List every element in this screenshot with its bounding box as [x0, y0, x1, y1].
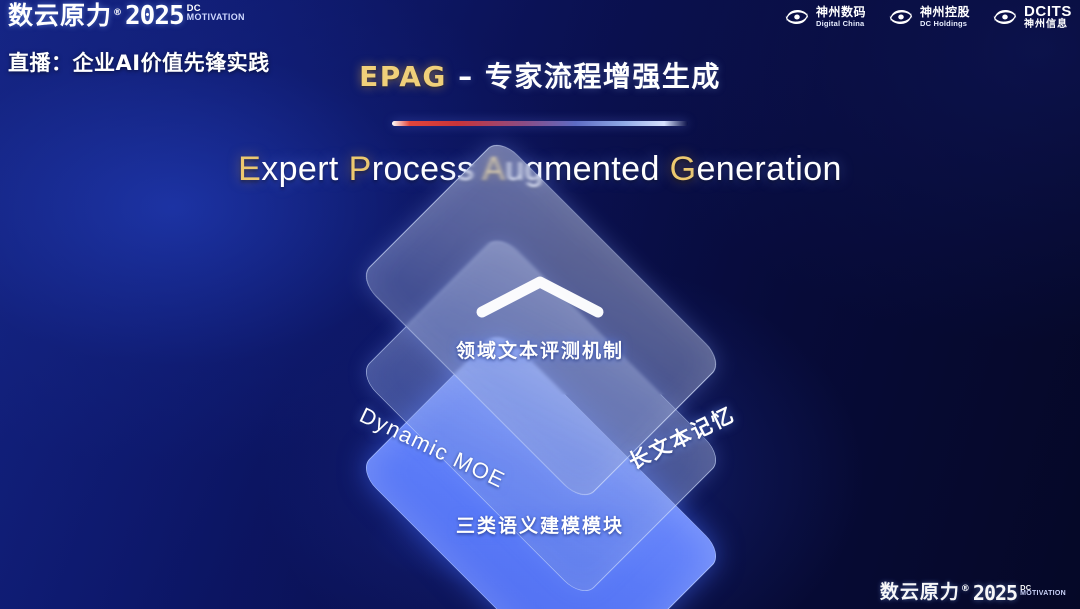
chevron-up-icon: [474, 272, 606, 320]
swirl-logo-icon: [784, 6, 810, 28]
brand-name-cn: 数云原力®: [8, 3, 123, 28]
brand-name-cn-footer: 数云原力®: [880, 583, 971, 602]
subtitle-word-expert: Expert: [238, 150, 339, 188]
logo-dcits: DCITS 神州信息: [992, 4, 1072, 30]
logo-dcits-cn: 神州信息: [1024, 20, 1072, 31]
diagram-layer-top-label: 领域文本评测机制: [295, 336, 785, 363]
brand-logo-top-left: 数云原力® 2025 DC MOTIVATION: [8, 3, 245, 29]
logo-digital-china-en: Digital China: [816, 20, 866, 28]
page-title: EPAG – 专家流程增强生成: [0, 55, 1080, 95]
brand-tagline-footer: DC MOTIVATION: [1020, 584, 1066, 598]
registered-mark: ®: [113, 8, 123, 18]
logo-digital-china: 神州数码 Digital China: [784, 6, 866, 28]
title-divider: [392, 121, 688, 126]
brand-year-footer: 2025: [973, 583, 1017, 603]
subtitle-rest-generation: eneration: [696, 150, 841, 188]
brand-tagline-line2: MOTIVATION: [187, 13, 245, 22]
subtitle-rest-expert: xpert: [261, 150, 339, 188]
logo-dc-holdings: 神州控股 DC Holdings: [888, 6, 970, 28]
subtitle-word-generation: Generation: [670, 150, 842, 188]
logo-dc-holdings-cn: 神州控股: [920, 6, 970, 19]
subtitle-cap-p: P: [349, 150, 372, 188]
slide-canvas: 数云原力® 2025 DC MOTIVATION 直播：企业AI价值先锋实践 神…: [0, 0, 1080, 609]
logo-digital-china-text: 神州数码 Digital China: [816, 6, 866, 27]
brand-tagline-footer-line2: MOTIVATION: [1020, 591, 1066, 598]
swirl-logo-icon: [888, 6, 914, 28]
logo-dcits-text: DCITS 神州信息: [1024, 4, 1072, 30]
brand-tagline: DC MOTIVATION: [187, 4, 245, 22]
partner-logos: 神州数码 Digital China 神州控股 DC Holdings: [784, 4, 1072, 30]
page-title-subtitle-cn: – 专家流程增强生成: [447, 60, 721, 93]
swirl-logo-icon: [992, 6, 1018, 28]
subtitle-cap-e: E: [238, 150, 261, 188]
logo-digital-china-cn: 神州数码: [816, 6, 866, 19]
diagram-layer-bottom-label: 三类语义建模模块: [295, 511, 785, 538]
layered-architecture-diagram: 领域文本评测机制 Dynamic MOE 长文本记忆 三类语义建模模块: [295, 225, 785, 585]
brand-logo-bottom-right: 数云原力® 2025 DC MOTIVATION: [880, 583, 1066, 603]
logo-dc-holdings-en: DC Holdings: [920, 20, 970, 28]
registered-mark-footer: ®: [961, 584, 971, 594]
logo-dc-holdings-text: 神州控股 DC Holdings: [920, 6, 970, 27]
logo-dcits-en: DCITS: [1024, 4, 1072, 20]
subtitle-cap-g: G: [670, 150, 697, 188]
page-title-acronym: EPAG: [359, 60, 447, 93]
brand-year: 2025: [125, 3, 184, 29]
